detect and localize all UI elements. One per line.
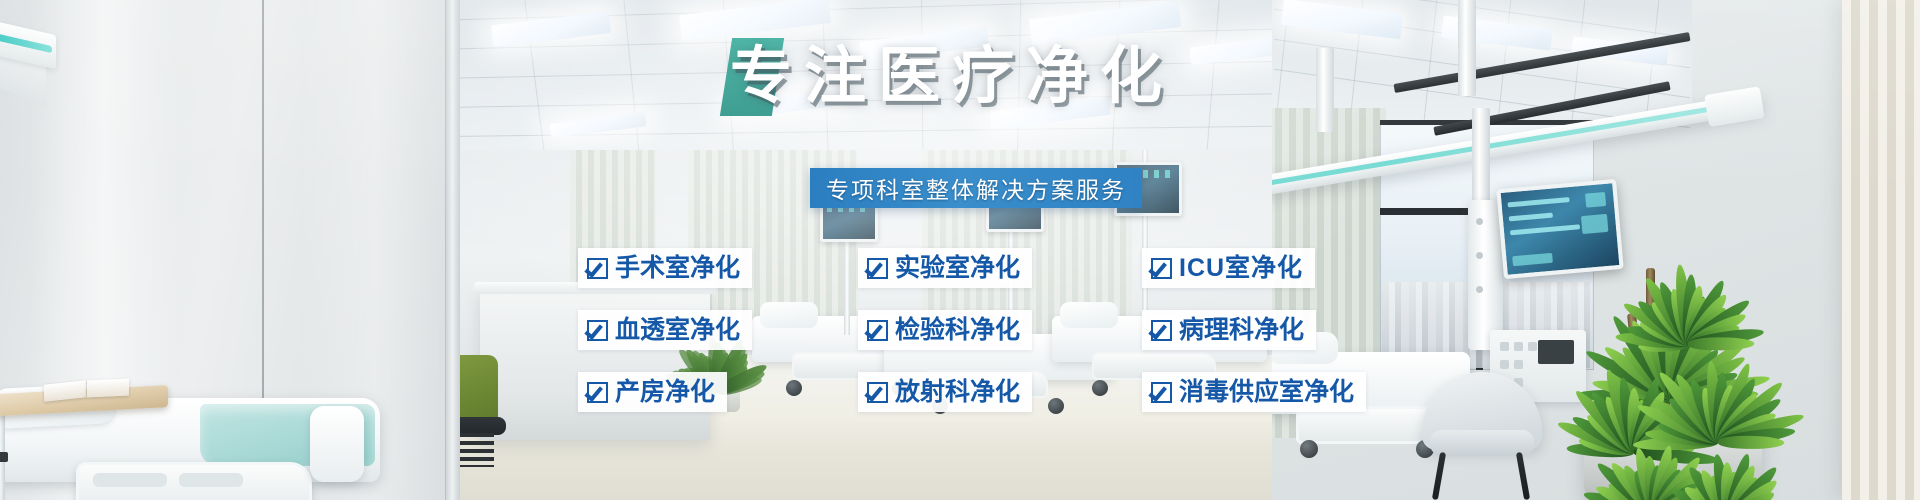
subtitle-bar: 专项科室整体解决方案服务 bbox=[810, 168, 1142, 208]
service-label: 检验科净化 bbox=[895, 315, 1020, 345]
service-label: 血透室净化 bbox=[615, 315, 740, 345]
service-label: 消毒供应室净化 bbox=[1179, 377, 1354, 407]
service-chip[interactable]: 消毒供应室净化 bbox=[1142, 372, 1366, 412]
page-title: 专注医疗净化 bbox=[730, 38, 1174, 116]
checkbox-checked-icon bbox=[867, 258, 888, 279]
checkbox-checked-icon bbox=[867, 320, 888, 341]
service-label: 实验室净化 bbox=[895, 253, 1020, 283]
service-chip[interactable]: 血透室净化 bbox=[578, 310, 752, 350]
hero-banner: 专注医疗净化 专项科室整体解决方案服务 手术室净化 血透室净化 产房净化 bbox=[0, 0, 1920, 500]
service-chip[interactable]: 放射科净化 bbox=[858, 372, 1032, 412]
service-label: 产房净化 bbox=[615, 377, 715, 407]
service-list: 手术室净化 血透室净化 产房净化 实验室净化 检验科净化 bbox=[0, 248, 1920, 428]
checkbox-checked-icon bbox=[587, 320, 608, 341]
checkbox-checked-icon bbox=[587, 382, 608, 403]
checkbox-checked-icon bbox=[587, 258, 608, 279]
service-chip[interactable]: 产房净化 bbox=[578, 372, 727, 412]
checkbox-checked-icon bbox=[1151, 382, 1172, 403]
service-column-1: 手术室净化 血透室净化 产房净化 bbox=[578, 248, 752, 434]
service-chip[interactable]: 手术室净化 bbox=[578, 248, 752, 288]
checkbox-checked-icon bbox=[1151, 320, 1172, 341]
service-label: ICU室净化 bbox=[1179, 253, 1303, 283]
subtitle-text: 专项科室整体解决方案服务 bbox=[826, 171, 1126, 205]
service-chip[interactable]: 检验科净化 bbox=[858, 310, 1032, 350]
service-label: 放射科净化 bbox=[895, 377, 1020, 407]
service-chip[interactable]: 实验室净化 bbox=[858, 248, 1032, 288]
service-label: 病理科净化 bbox=[1179, 315, 1304, 345]
checkbox-checked-icon bbox=[1151, 258, 1172, 279]
service-chip[interactable]: 病理科净化 bbox=[1142, 310, 1316, 350]
banner-content: 专注医疗净化 专项科室整体解决方案服务 手术室净化 血透室净化 产房净化 bbox=[0, 0, 1920, 500]
checkbox-checked-icon bbox=[867, 382, 888, 403]
service-column-2: 实验室净化 检验科净化 放射科净化 bbox=[858, 248, 1032, 434]
service-label: 手术室净化 bbox=[615, 253, 740, 283]
service-column-3: ICU室净化 病理科净化 消毒供应室净化 bbox=[1142, 248, 1366, 434]
service-chip[interactable]: ICU室净化 bbox=[1142, 248, 1315, 288]
